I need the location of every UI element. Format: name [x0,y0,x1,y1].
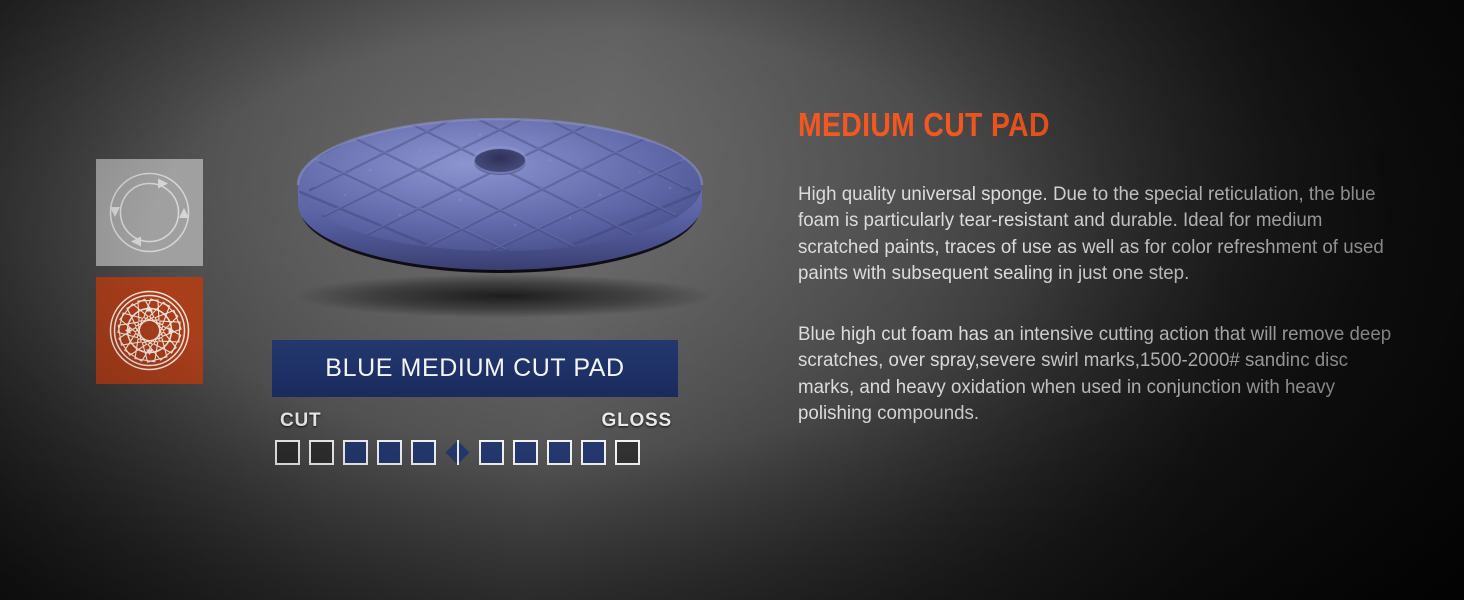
cut-gloss-scale: CUT GLOSS [272,410,678,465]
scale-labels: CUT GLOSS [272,410,678,432]
rotary-circular-arrows-icon [96,159,203,266]
rotary-motion-badge [96,159,203,266]
description-column: MEDIUM CUT PAD High quality universal sp… [798,108,1416,427]
scale-steps [272,440,678,465]
scale-step-9 [547,440,572,465]
scale-step-3 [343,440,368,465]
feature-badges [96,159,203,384]
scale-center-marker [445,440,470,465]
scale-step-1 [275,440,300,465]
scale-step-8 [513,440,538,465]
product-name-banner: BLUE MEDIUM CUT PAD [272,340,678,397]
scale-step-11 [615,440,640,465]
scale-label-cut: CUT [280,410,321,432]
blue-medium-cut-foam-pad-illustration [250,100,750,325]
product-image [250,100,750,325]
scale-step-7 [479,440,504,465]
orbital-motion-badge [96,277,203,384]
scale-label-gloss: GLOSS [601,410,672,432]
scale-step-4 [377,440,402,465]
orbital-starburst-icon [96,277,203,384]
page-title: MEDIUM CUT PAD [798,108,1329,143]
description-paragraph-2: Blue high cut foam has an intensive cutt… [798,321,1391,427]
marker-tick [457,440,459,465]
product-name-label: BLUE MEDIUM CUT PAD [325,354,624,383]
description-paragraph-1: High quality universal sponge. Due to th… [798,181,1391,287]
scale-step-5 [411,440,436,465]
scale-step-2 [309,440,334,465]
scale-step-10 [581,440,606,465]
